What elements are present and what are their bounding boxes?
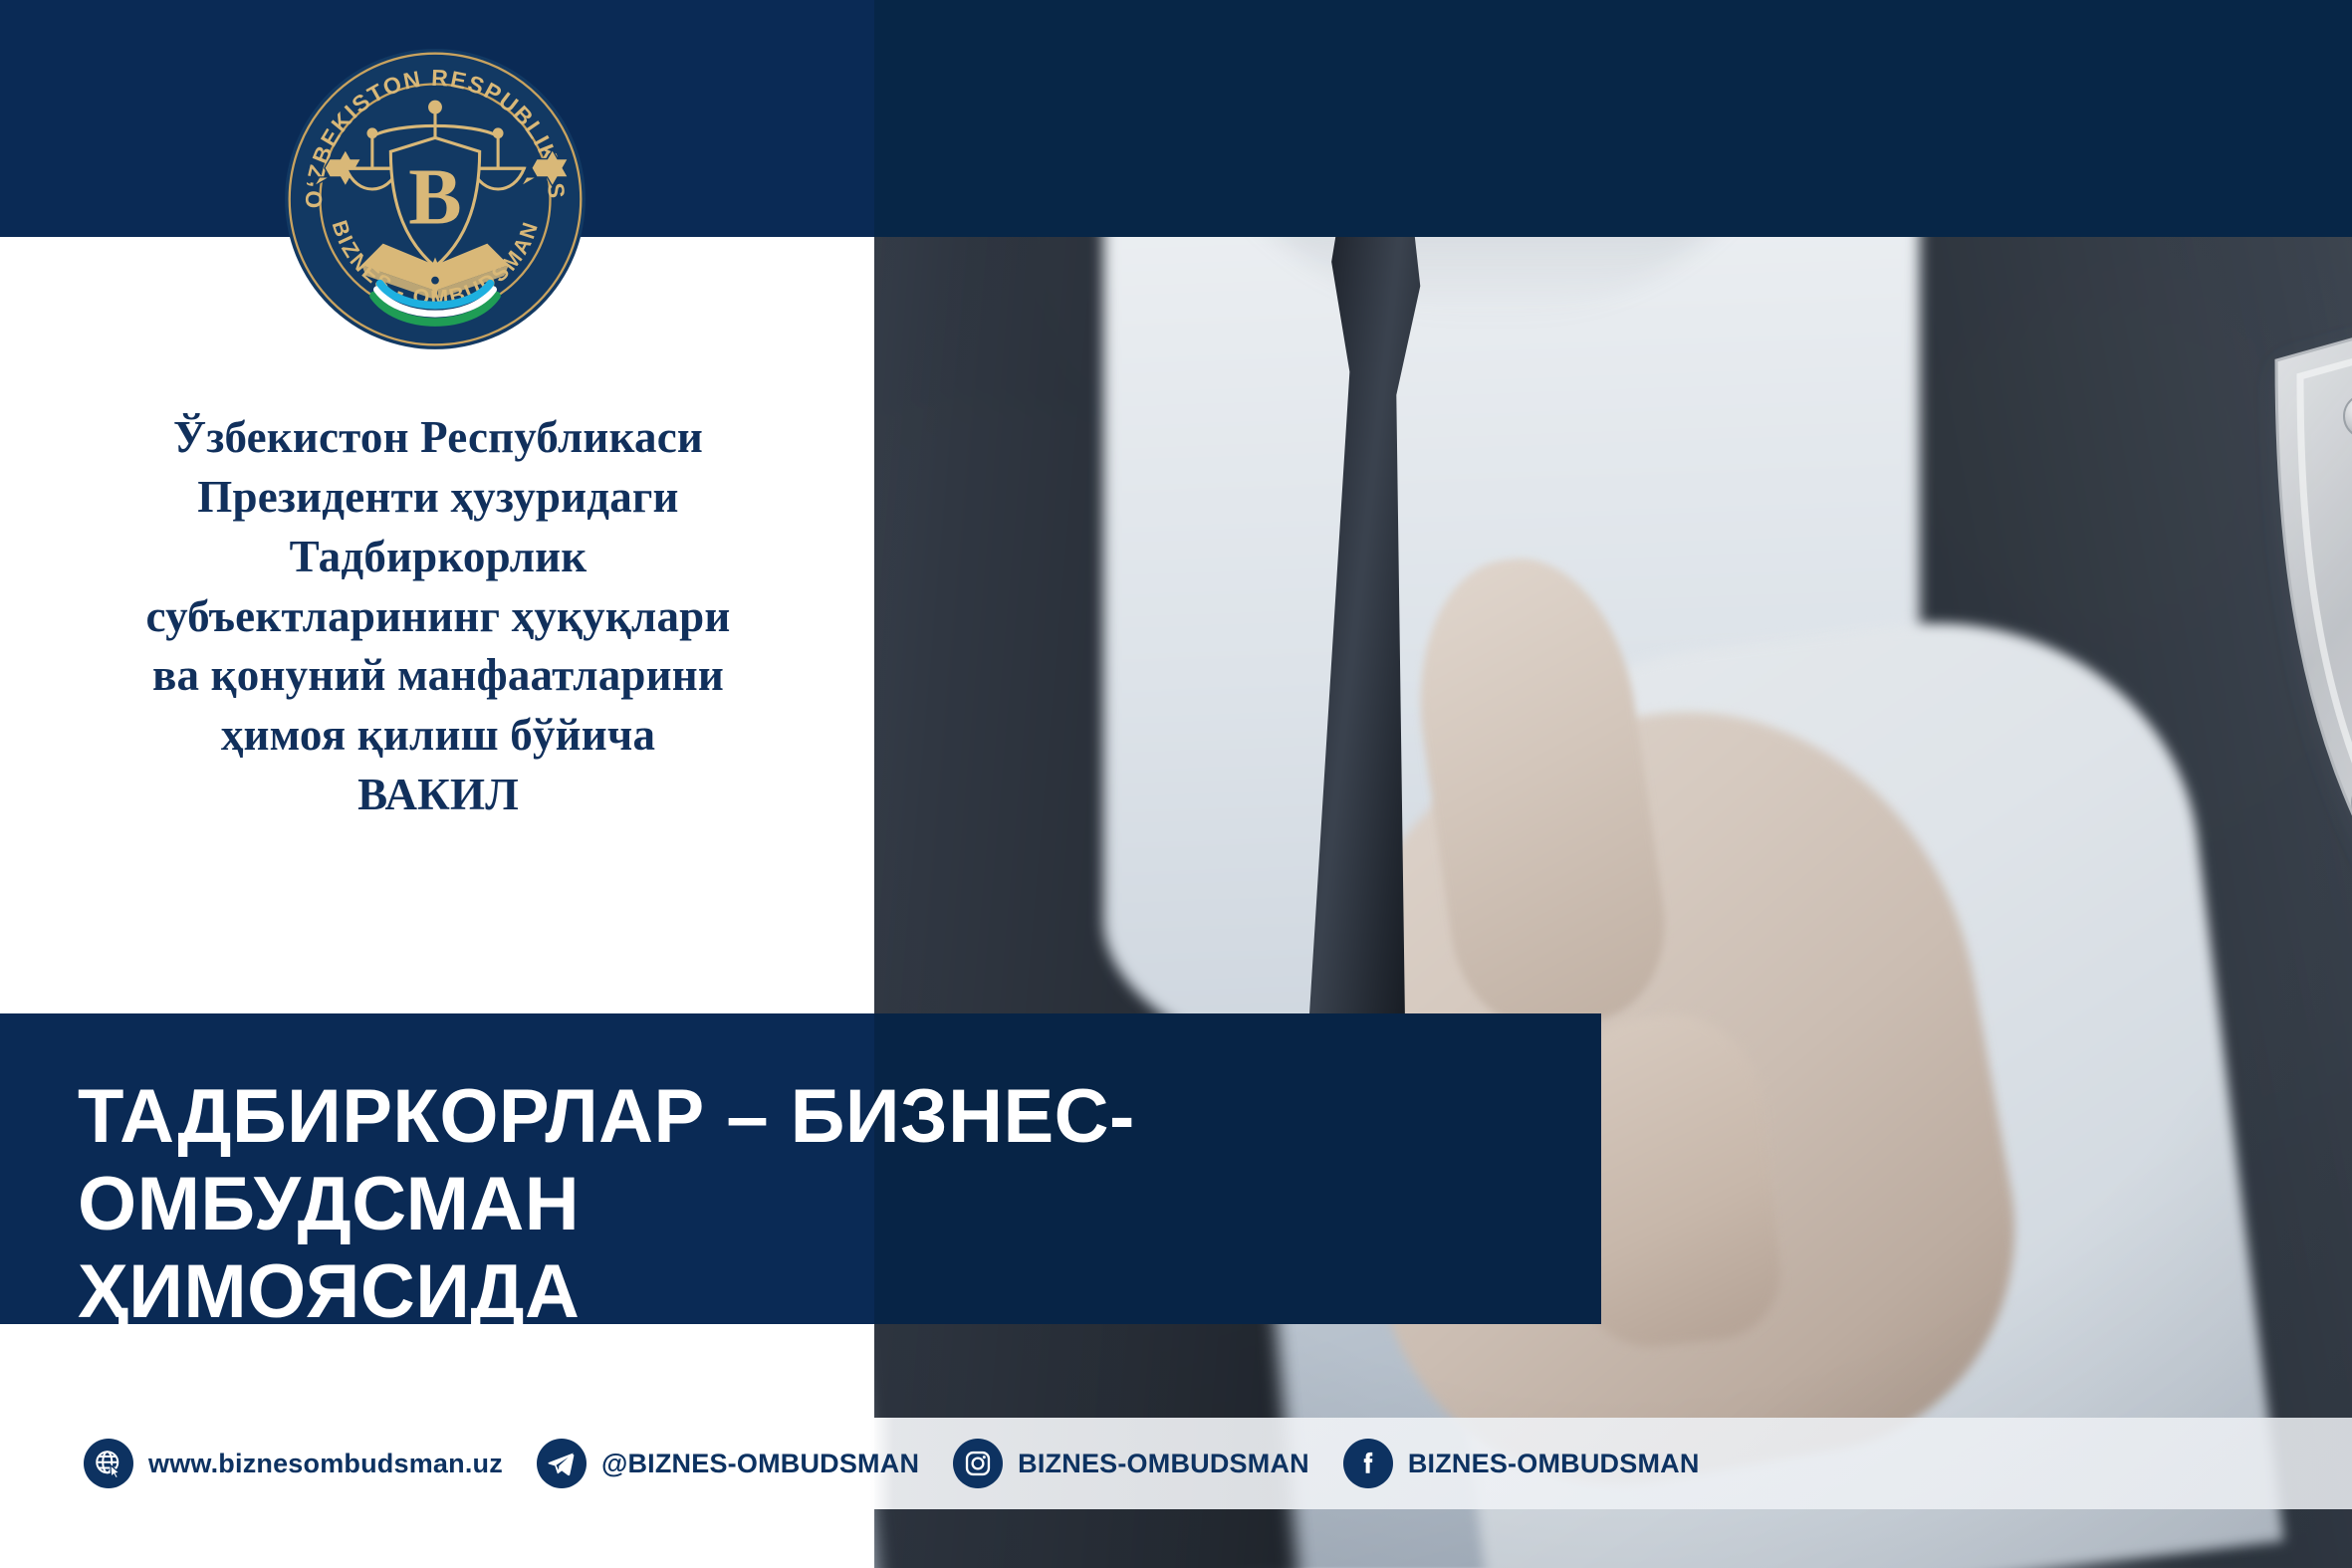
org-line-5: ва қонуний манфаатларини	[60, 646, 817, 706]
emblem-center-letter: B	[408, 154, 461, 242]
org-line-1: Ўзбекистон Республикаси	[60, 408, 817, 468]
org-line-3: Тадбиркорлик	[60, 528, 817, 587]
contact-facebook-label: BIZNES-OMBUDSMAN	[1408, 1449, 1700, 1479]
headline-text: ТАДБИРКОРЛАР – БИЗНЕС-ОМБУДСМАН ҲИМОЯСИД…	[78, 1073, 1591, 1336]
poster-canvas: O‘ZBEKISTON RESPUBLIKASI BIZNES - OMBUDS…	[0, 0, 2352, 1568]
organization-title: Ўзбекистон Республикаси Президенти ҳузур…	[60, 408, 817, 825]
org-line-7: ВАКИЛ	[60, 766, 817, 825]
telegram-icon	[537, 1439, 587, 1488]
instagram-icon	[953, 1439, 1003, 1488]
header-bar-photo-overlay	[874, 0, 2352, 237]
contact-website[interactable]: www.biznesombudsman.uz	[84, 1439, 503, 1488]
globe-icon	[84, 1439, 133, 1488]
shield-checkmark-icon	[2246, 249, 2352, 1185]
facebook-icon	[1343, 1439, 1393, 1488]
org-line-6: ҳимоя қилиш бўйича	[60, 706, 817, 766]
organization-emblem: O‘ZBEKISTON RESPUBLIKASI BIZNES - OMBUDS…	[282, 46, 588, 352]
contact-instagram-label: BIZNES-OMBUDSMAN	[1018, 1449, 1309, 1479]
headline-line-1: ТАДБИРКОРЛАР – БИЗНЕС-ОМБУДСМАН	[78, 1073, 1591, 1248]
contact-telegram[interactable]: @BIZNES-OMBUDSMAN	[537, 1439, 919, 1488]
contact-facebook[interactable]: BIZNES-OMBUDSMAN	[1343, 1439, 1700, 1488]
org-line-4: субъектларининг ҳуқуқлари	[60, 587, 817, 647]
footer-contacts: www.biznesombudsman.uz @BIZNES-OMBUDSMAN…	[84, 1418, 1734, 1509]
contact-website-label: www.biznesombudsman.uz	[148, 1449, 503, 1479]
contact-telegram-label: @BIZNES-OMBUDSMAN	[601, 1449, 919, 1479]
contact-instagram[interactable]: BIZNES-OMBUDSMAN	[953, 1439, 1309, 1488]
org-line-2: Президенти ҳузуридаги	[60, 468, 817, 528]
headline-line-2: ҲИМОЯСИДА	[78, 1248, 1591, 1336]
